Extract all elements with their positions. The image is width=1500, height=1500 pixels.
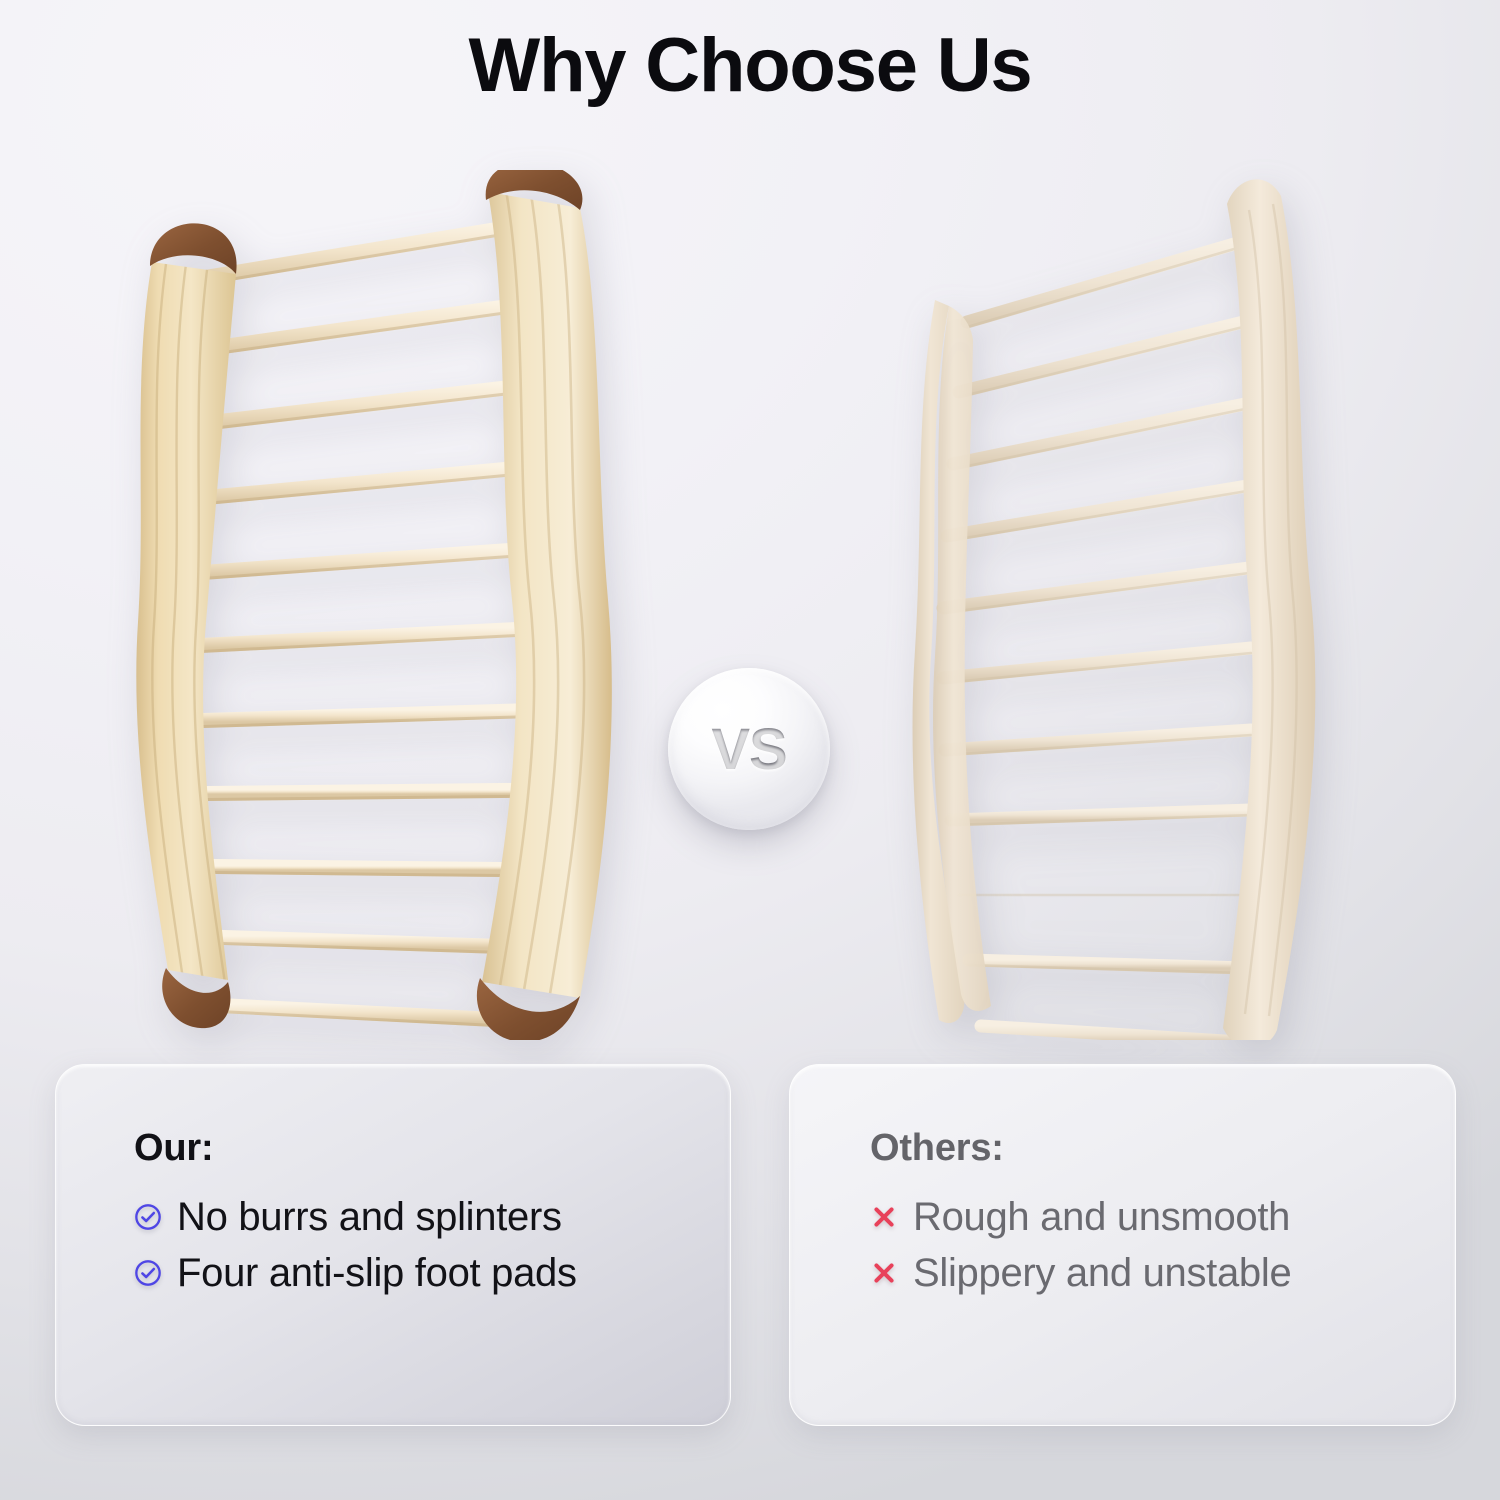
check-circle-icon [134, 1259, 162, 1287]
check-circle-icon [134, 1203, 162, 1231]
page-title: Why Choose Us [0, 28, 1500, 104]
competitor-left-rail [912, 300, 991, 1023]
list-item-label: Rough and unsmooth [913, 1197, 1290, 1237]
product-image-theirs [905, 170, 1335, 1040]
card-ours-list: No burrs and splinters Four anti-slip fo… [134, 1197, 710, 1293]
infographic-canvas: Why Choose Us [0, 0, 1500, 1500]
competitor-ladder-illustration [905, 170, 1335, 1040]
card-theirs-heading: Others: [870, 1129, 1435, 1167]
card-ours: Our: No burrs and splinters Four anti-sl… [55, 1064, 731, 1426]
card-ours-heading: Our: [134, 1129, 710, 1167]
competitor-rungs [943, 242, 1251, 1040]
list-item-label: Four anti-slip foot pads [177, 1253, 577, 1293]
card-theirs-list: Rough and unsmooth Slippery and unstable [870, 1197, 1435, 1293]
vs-label: VS [711, 716, 786, 783]
list-item: Slippery and unstable [870, 1253, 1435, 1293]
list-item: Rough and unsmooth [870, 1197, 1435, 1237]
list-item-label: Slippery and unstable [913, 1253, 1291, 1293]
competitor-right-rail [1223, 179, 1315, 1040]
product-image-ours [110, 170, 630, 1040]
list-item-label: No burrs and splinters [177, 1197, 562, 1237]
list-item: Four anti-slip foot pads [134, 1253, 710, 1293]
our-left-rail [136, 223, 236, 1028]
list-item: No burrs and splinters [134, 1197, 710, 1237]
our-ladder-illustration [110, 170, 630, 1040]
x-mark-icon [870, 1203, 898, 1231]
vs-badge: VS [668, 668, 830, 830]
card-theirs: Others: Rough and unsmooth Slippery and … [789, 1064, 1456, 1426]
x-mark-icon [870, 1259, 898, 1287]
